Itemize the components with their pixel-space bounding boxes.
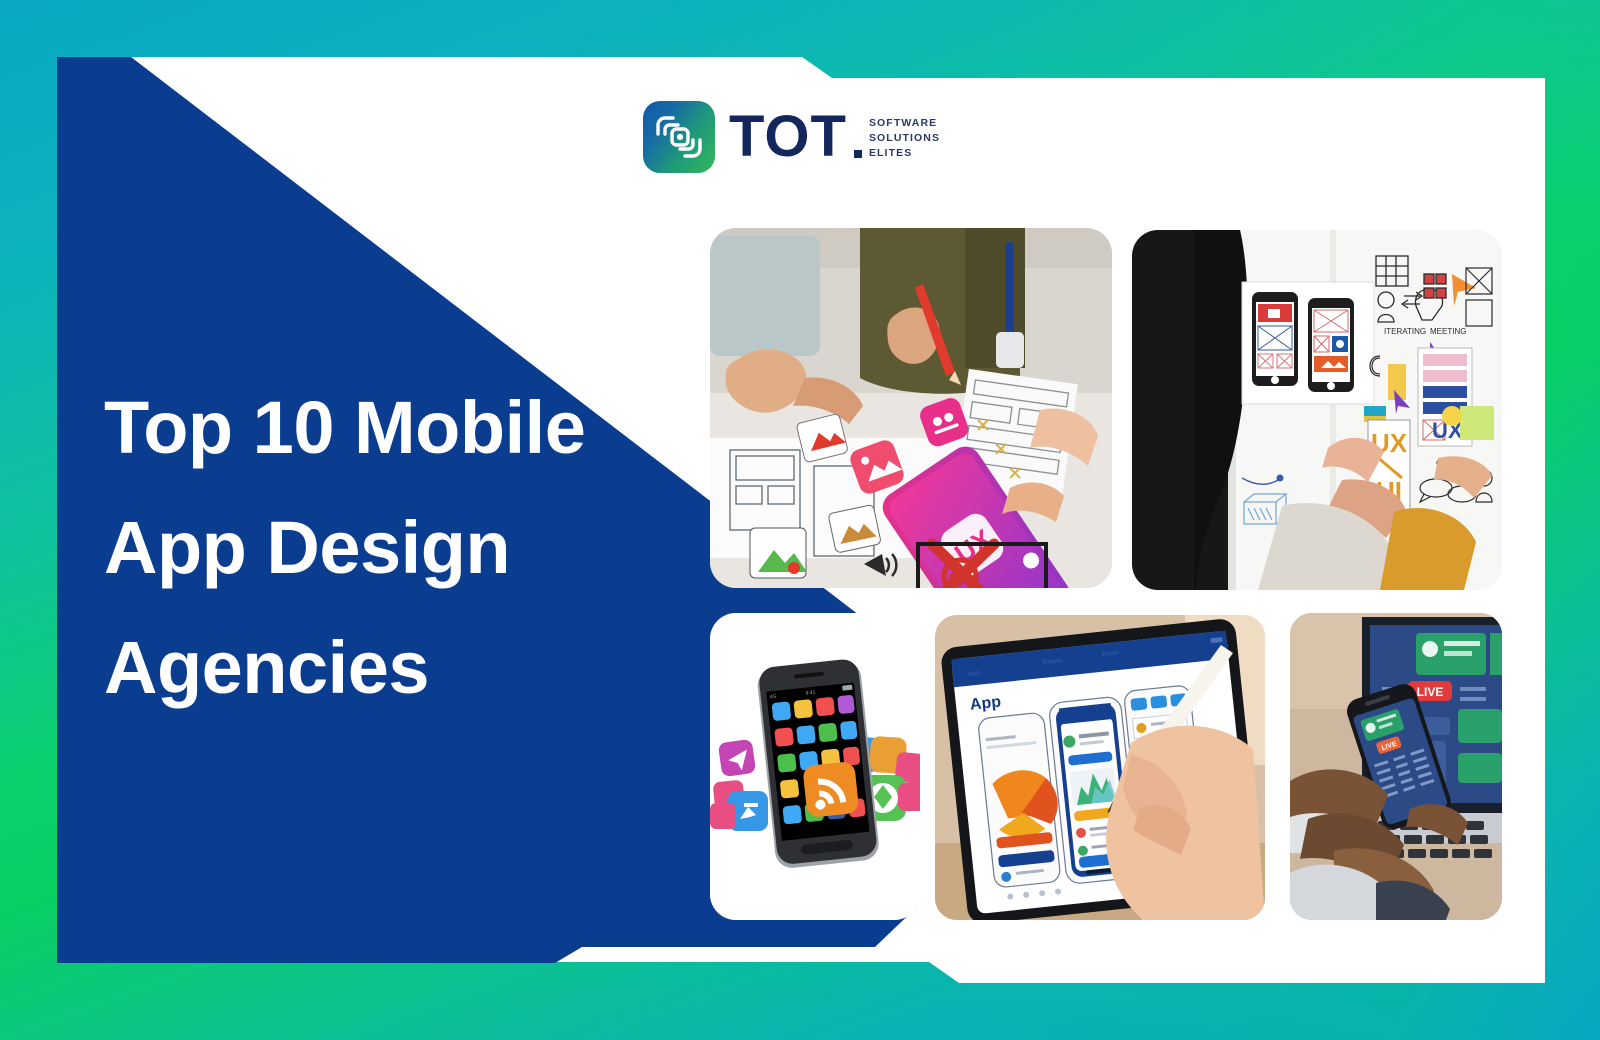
svg-text:App: App xyxy=(969,694,1002,714)
brand-dot xyxy=(854,150,862,158)
photo-whiteboard-wireframe-planning: ITERATING MEETING UX/U xyxy=(1132,230,1502,590)
photo-smartphone-app-icons-cloud: 4G9:41 xyxy=(710,613,920,920)
photo-tablet-app-prototype-stylus: ToolsShapesExport App xyxy=(935,615,1265,920)
page-title: Top 10 Mobile App Design Agencies xyxy=(104,368,704,728)
brand-wordmark: TOT xyxy=(729,112,847,162)
tagline-line-3: ELITES xyxy=(869,146,940,161)
poster-canvas: TOT SOFTWARE SOLUTIONS ELITES Top 10 Mob… xyxy=(0,0,1600,1040)
svg-text:MEETING: MEETING xyxy=(1430,327,1466,336)
tot-scan-bracket-icon xyxy=(643,101,715,173)
headline-line-2: App Design xyxy=(104,488,704,608)
brand-tagline: SOFTWARE SOLUTIONS ELITES xyxy=(869,116,940,162)
headline-line-3: Agencies xyxy=(104,608,704,728)
svg-text:4G: 4G xyxy=(770,694,777,701)
headline-line-1: Top 10 Mobile xyxy=(104,368,704,488)
photo-ux-workshop-team-sketching: UX xyxy=(710,228,1112,588)
brand-logo: TOT SOFTWARE SOLUTIONS ELITES xyxy=(643,101,940,173)
svg-text:LIVE: LIVE xyxy=(1417,685,1444,699)
tagline-line-1: SOFTWARE xyxy=(869,116,940,131)
svg-text:ITERATING: ITERATING xyxy=(1384,327,1426,336)
tagline-line-2: SOLUTIONS xyxy=(869,131,940,146)
svg-text:9:41: 9:41 xyxy=(805,690,816,697)
photo-mobile-app-laptop-usage: LIVE xyxy=(1290,613,1502,920)
